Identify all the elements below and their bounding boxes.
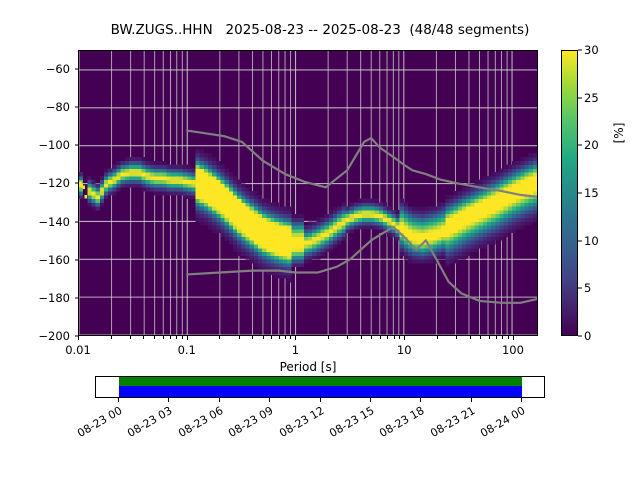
timeline-tick-mark [269,398,270,402]
colorbar-tick-mark [578,240,582,241]
x-axis-tick-label: 0.1 [178,343,196,357]
x-axis-tick-mark [394,336,395,339]
timeline-tick-label: 08-23 21 [420,404,477,444]
x-axis-title: Period [s] [78,360,538,374]
timeline-tick-label: 08-23 06 [169,404,226,444]
x-axis-tick-mark [78,336,79,340]
x-axis-tick-mark [371,336,372,339]
data-coverage-timeline[interactable] [95,376,545,398]
timeline-tick-mark [168,398,169,402]
timeline-tick-mark [420,398,421,402]
x-axis-tick-mark [399,336,400,339]
y-axis-tick-mark [75,107,79,108]
x-axis-tick-mark [154,336,155,339]
x-axis-tick-mark [130,336,131,339]
figure-title: BW.ZUGS..HHN 2025-08-23 -- 2025-08-23 (4… [0,22,640,38]
x-axis-tick-mark [361,336,362,339]
x-axis-tick-mark [252,336,253,339]
x-axis-tick-mark [387,336,388,339]
y-axis-tick-label: −120 [26,176,70,190]
y-axis-tick-label: −200 [26,329,70,343]
colorbar-tick-label: 10 [584,234,599,248]
x-axis-tick-mark [143,336,144,339]
colorbar [561,50,578,336]
timeline-tick-mark [370,398,371,402]
x-axis-tick-mark [456,336,457,339]
colorbar-tick-label: 25 [584,91,599,105]
timeline-tick-mark [118,398,119,402]
colorbar-tick-mark [578,336,582,337]
timeline-tick-label: 08-23 12 [269,404,326,444]
x-axis-tick-mark [170,336,171,339]
x-axis-tick-mark [239,336,240,339]
y-axis-tick-label: −160 [26,253,70,267]
y-axis-tick-mark [75,145,79,146]
timeline-tick-label: 08-23 03 [118,404,175,444]
noise-model-curves [79,51,537,335]
x-axis-tick-mark [219,336,220,339]
x-axis-tick-label: 10 [397,343,412,357]
x-axis-tick-mark [182,336,183,339]
x-axis-tick-mark [502,336,503,339]
colorbar-tick-label: 0 [584,329,591,343]
timeline-tick-mark [471,398,472,402]
colorbar-tick-mark [578,145,582,146]
coverage-bar-blue [119,386,522,397]
x-axis-tick-mark [328,336,329,339]
timeline-tick-label: 08-24 00 [471,404,528,444]
y-axis-tick-label: −140 [26,215,70,229]
x-axis-tick-mark [513,336,514,340]
colorbar-tick-mark [578,193,582,194]
x-axis-tick-mark [163,336,164,339]
x-axis-tick-mark [489,336,490,339]
x-axis-tick-mark [480,336,481,339]
x-axis-tick-mark [187,336,188,340]
y-axis-tick-mark [75,221,79,222]
timeline-tick-mark [320,398,321,402]
colorbar-tick-label: 5 [584,281,591,295]
x-axis-tick-mark [380,336,381,339]
timeline-tick-label: 08-23 18 [370,404,427,444]
timeline-tick-mark [219,398,220,402]
y-axis-tick-mark [75,297,79,298]
colorbar-tick-mark [578,288,582,289]
x-axis-tick-mark [437,336,438,339]
y-axis-tick-label: −60 [26,62,70,76]
timeline-tick-label: 08-23 09 [219,404,276,444]
ppsd-plot-area[interactable] [78,50,538,336]
x-axis-tick-mark [404,336,405,340]
x-axis-tick-mark [279,336,280,339]
x-axis-tick-mark [496,336,497,339]
x-axis-tick-mark [347,336,348,339]
x-axis-tick-label: 1 [292,343,299,357]
x-axis-tick-label: 100 [502,343,524,357]
x-axis-tick-mark [470,336,471,339]
colorbar-tick-label: 20 [584,138,599,152]
x-axis-tick-mark [508,336,509,339]
coverage-bar-green [119,377,522,386]
x-axis-tick-mark [295,336,296,340]
colorbar-tick-mark [578,97,582,98]
y-axis-tick-label: −80 [26,100,70,114]
timeline-tick-label: 08-23 15 [320,404,377,444]
ppsd-figure: BW.ZUGS..HHN 2025-08-23 -- 2025-08-23 (4… [0,0,640,480]
y-axis-tick-mark [75,183,79,184]
colorbar-title: [%] [612,73,626,193]
x-axis-tick-mark [111,336,112,339]
y-axis-tick-mark [75,69,79,70]
timeline-tick-mark [521,398,522,402]
x-axis-tick-mark [176,336,177,339]
colorbar-tick-label: 30 [584,43,599,57]
x-axis-tick-mark [263,336,264,339]
x-axis-tick-label: 0.01 [65,343,91,357]
colorbar-tick-mark [578,50,582,51]
x-axis-tick-mark [285,336,286,339]
x-axis-tick-mark [271,336,272,339]
y-axis-tick-mark [75,259,79,260]
y-axis-tick-label: −100 [26,138,70,152]
colorbar-tick-label: 15 [584,186,599,200]
timeline-tick-label: 08-23 00 [68,404,125,444]
x-axis-tick-mark [290,336,291,339]
y-axis-tick-label: −180 [26,291,70,305]
